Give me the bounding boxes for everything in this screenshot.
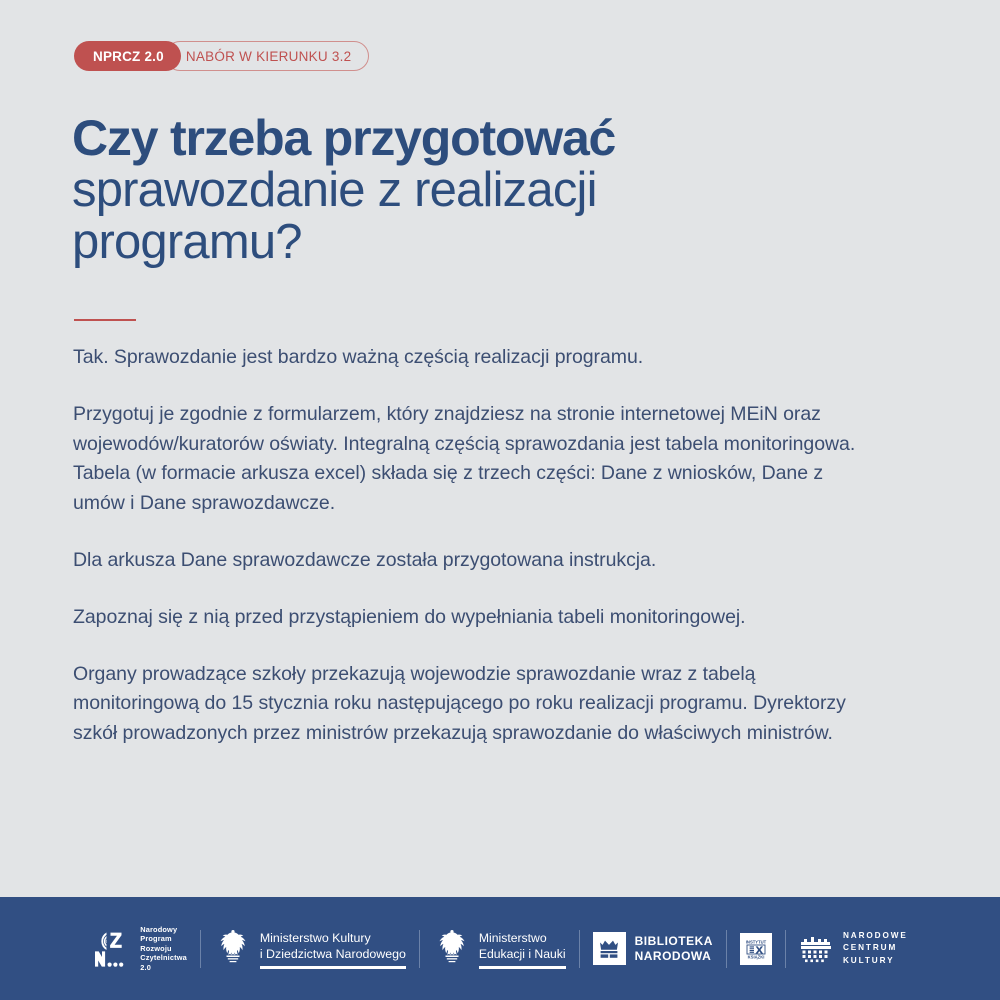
ministry-mkidn: Ministerstwo Kultury i Dziedzictwa Narod… xyxy=(214,929,406,969)
section-divider xyxy=(74,319,136,321)
svg-text:INSTYTUT: INSTYTUT xyxy=(746,939,767,944)
ministry-mkidn-text: Ministerstwo Kultury i Dziedzictwa Narod… xyxy=(260,931,406,966)
logo-mkidn: Ministerstwo Kultury i Dziedzictwa Narod… xyxy=(201,923,419,975)
logo-separator xyxy=(785,930,786,968)
title-line-1: Czy trzeba przygotować xyxy=(72,112,912,164)
badge-nprcz: NPRCZ 2.0 xyxy=(74,41,181,71)
badge-row: NPRCZ 2.0 NABÓR W KIERUNKU 3.2 xyxy=(74,41,369,71)
polish-eagle-icon xyxy=(433,929,471,969)
paragraph-2: Przygotuj je zgodnie z formularzem, któr… xyxy=(73,400,873,519)
body-text: Tak. Sprawozdanie jest bardzo ważną częś… xyxy=(73,343,873,749)
page-title: Czy trzeba przygotować sprawozdanie z re… xyxy=(72,112,912,268)
badge-nabor-kierunek: NABÓR W KIERUNKU 3.2 xyxy=(165,41,370,71)
ministry-mein: Ministerstwo Edukacji i Nauki xyxy=(433,929,566,969)
svg-text:KSIĄŻKI: KSIĄŻKI xyxy=(748,954,765,959)
logo-separator xyxy=(419,930,420,968)
footer-logo-bar: Narodowy Program Rozwoju Czytelnictwa 2.… xyxy=(0,897,1000,1000)
crown-book-icon xyxy=(593,932,626,965)
nprcz-logo-icon xyxy=(92,929,132,969)
slide-canvas: NPRCZ 2.0 NABÓR W KIERUNKU 3.2 Czy trzeb… xyxy=(0,0,1000,1000)
logo-separator xyxy=(726,930,727,968)
title-line-3: programu? xyxy=(72,216,912,268)
logo-biblioteka-narodowa: BIBLIOTEKA NARODOWA xyxy=(580,923,726,975)
castle-icon xyxy=(799,932,833,966)
paragraph-4: Zapoznaj się z nią przed przystąpieniem … xyxy=(73,603,873,633)
instytut-ksiazki-icon: INSTYTUT KSIĄŻKI xyxy=(740,933,772,965)
nck-text: NARODOWE CENTRUM KULTURY xyxy=(843,930,908,968)
nprcz-logo-text: Narodowy Program Rozwoju Czytelnictwa 2.… xyxy=(140,925,187,973)
logo-nck: NARODOWE CENTRUM KULTURY xyxy=(786,923,921,975)
ministry-mein-text: Ministerstwo Edukacji i Nauki xyxy=(479,931,566,966)
logo-strip: Narodowy Program Rozwoju Czytelnictwa 2.… xyxy=(79,923,920,975)
biblioteka-narodowa-text: BIBLIOTEKA NARODOWA xyxy=(635,934,713,963)
logo-mein: Ministerstwo Edukacji i Nauki xyxy=(420,923,579,975)
paragraph-1: Tak. Sprawozdanie jest bardzo ważną częś… xyxy=(73,343,873,373)
polish-eagle-icon xyxy=(214,929,252,969)
title-line-2: sprawozdanie z realizacji xyxy=(72,164,912,216)
logo-instytut-ksiazki: INSTYTUT KSIĄŻKI xyxy=(727,923,785,975)
logo-nprcz: Narodowy Program Rozwoju Czytelnictwa 2.… xyxy=(79,923,200,975)
logo-separator xyxy=(579,930,580,968)
paragraph-5: Organy prowadzące szkoły przekazują woje… xyxy=(73,660,873,749)
logo-separator xyxy=(200,930,201,968)
paragraph-3: Dla arkusza Dane sprawozdawcze została p… xyxy=(73,546,873,576)
